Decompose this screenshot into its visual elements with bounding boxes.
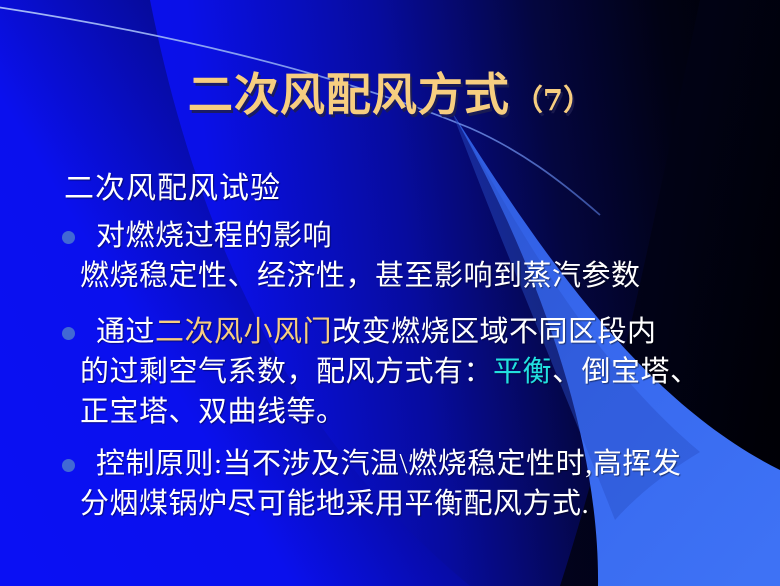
list-item-continuation: 燃烧稳定性、经济性，甚至影响到蒸汽参数: [58, 256, 770, 296]
list-item: 对燃烧过程的影响: [58, 216, 770, 256]
text-segment: 正宝塔、双曲线等。: [80, 396, 346, 428]
slide-canvas: 二次风配风方式（7） 二次风配风试验 对燃烧过程的影响 燃烧稳定性、经济性，甚至…: [0, 0, 780, 586]
text-segment: 、倒宝塔、: [552, 356, 700, 388]
body-heading: 二次风配风试验: [58, 168, 770, 210]
list-item-line: 对燃烧过程的影响: [96, 216, 770, 256]
list-item: 通过二次风小风门改变燃烧区域不同区段内: [58, 312, 770, 352]
page-title-suffix: （7）: [514, 83, 592, 117]
list-item-continuation: 的过剩空气系数，配风方式有：平衡、倒宝塔、: [58, 352, 770, 392]
page-title: 二次风配风方式: [188, 68, 510, 121]
list-item-continuation: 分烟煤锅炉尽可能地采用平衡配风方式.: [58, 484, 770, 524]
slide-body: 二次风配风试验 对燃烧过程的影响 燃烧稳定性、经济性，甚至影响到蒸汽参数 通过二…: [58, 168, 770, 524]
text-segment: 通过: [96, 316, 155, 348]
list-item-line: 通过二次风小风门改变燃烧区域不同区段内: [96, 312, 770, 352]
list-item: 控制原则:当不涉及汽温\燃烧稳定性时,高挥发: [58, 444, 770, 484]
text-segment: 的过剩空气系数，配风方式有：: [80, 356, 493, 388]
list-item-line: 控制原则:当不涉及汽温\燃烧稳定性时,高挥发: [96, 444, 770, 484]
text-segment: 分烟煤锅炉尽可能地采用平衡配风方式.: [80, 488, 589, 520]
bullet-dot-icon: [62, 231, 75, 244]
bullet-dot-icon: [62, 459, 75, 472]
highlight-gold-segment: 二次风小风门: [155, 316, 332, 348]
text-segment: 改变燃烧区域不同区段内: [332, 316, 657, 348]
slide-title: 二次风配风方式（7）: [0, 58, 780, 123]
list-item-continuation: 正宝塔、双曲线等。: [58, 392, 770, 432]
text-segment: 燃烧稳定性、经济性，甚至影响到蒸汽参数: [80, 260, 641, 292]
text-segment: 对燃烧过程的影响: [96, 220, 332, 252]
text-segment: 控制原则:当不涉及汽温\燃烧稳定性时,高挥发: [96, 448, 681, 480]
bullet-dot-icon: [62, 327, 75, 340]
highlight-cyan-segment: 平衡: [493, 356, 552, 388]
